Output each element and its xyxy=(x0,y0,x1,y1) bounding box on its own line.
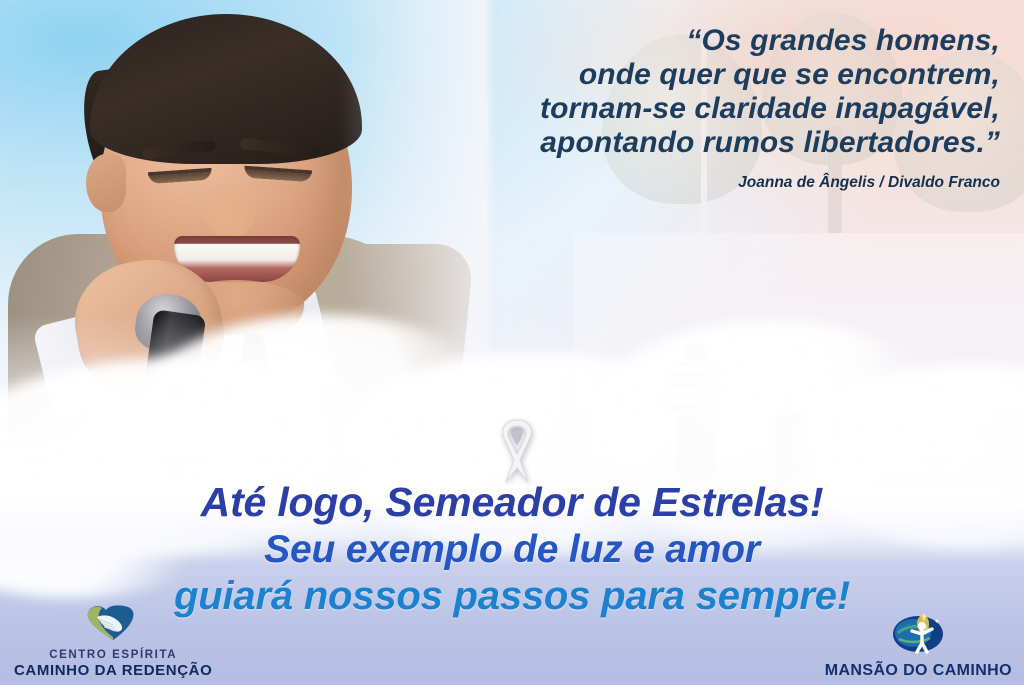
hair xyxy=(90,14,362,164)
headline-line-2: Seu exemplo de luz e amor xyxy=(0,529,1024,570)
quote-line-1: “Os grandes homens, xyxy=(380,24,1000,58)
logo-right-line-2: MANSÃO DO CAMINHO xyxy=(825,662,1012,679)
memorial-poster: “Os grandes homens, onde quer que se enc… xyxy=(0,0,1024,685)
quote-attribution: Joanna de Ângelis / Divaldo Franco xyxy=(380,174,1000,192)
white-ribbon-icon xyxy=(484,412,550,486)
logo-left-line-1: CENTRO ESPÍRITA xyxy=(49,649,177,662)
quote-line-3: tornam-se claridade inapagável, xyxy=(380,92,1000,126)
quote-line-4: apontando rumos libertadores.” xyxy=(380,126,1000,160)
globe-figure-icon xyxy=(889,612,947,659)
logo-centro-espirita[interactable]: CENTRO ESPÍRITA CAMINHO DA REDENÇÃO xyxy=(14,603,212,679)
logo-mansao-do-caminho[interactable]: MANSÃO DO CAMINHO xyxy=(825,612,1012,679)
heart-hands-icon xyxy=(85,603,141,646)
logo-left-line-2: CAMINHO DA REDENÇÃO xyxy=(14,662,212,679)
headline-line-1: Até logo, Semeador de Estrelas! xyxy=(0,482,1024,523)
quote-line-2: onde quer que se encontrem, xyxy=(380,58,1000,92)
headline-block: Até logo, Semeador de Estrelas! Seu exem… xyxy=(0,482,1024,623)
quote-block: “Os grandes homens, onde quer que se enc… xyxy=(380,24,1000,192)
